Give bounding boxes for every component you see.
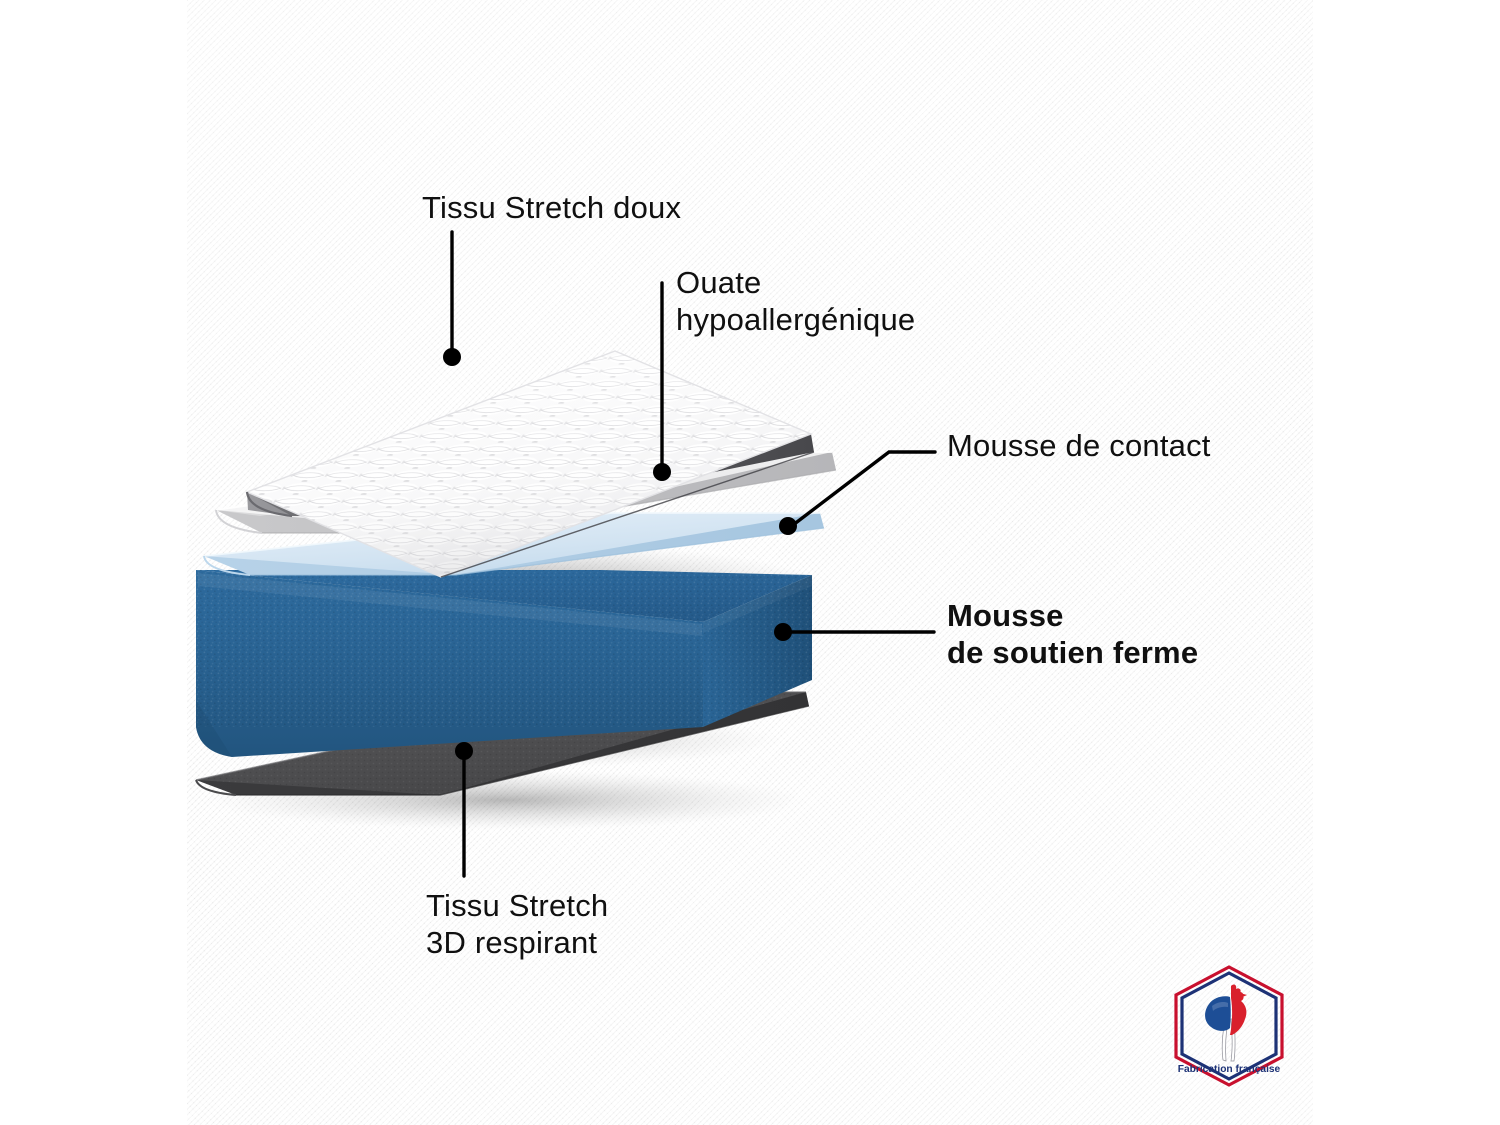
callout-label-mousse-de-contact: Mousse de contact: [947, 428, 1211, 465]
callout-label-mousse-de-soutien-ferme: Mousse de soutien ferme: [947, 598, 1198, 671]
fabrication-francaise-badge: Fabrication française: [1168, 962, 1290, 1090]
rooster-blue-icon: [1205, 996, 1231, 1031]
callout-label-ouate: Ouate hypoallergénique: [676, 265, 915, 338]
textured-background-panel: [187, 0, 1313, 1125]
product-layers-diagram: Tissu Stretch doux Ouate hypoallergéniqu…: [0, 0, 1500, 1125]
badge-caption: Fabrication française: [1178, 1064, 1281, 1075]
callout-label-tissu-stretch-doux: Tissu Stretch doux: [422, 190, 681, 227]
callout-label-tissu-stretch-3d-respirant: Tissu Stretch 3D respirant: [426, 888, 608, 961]
